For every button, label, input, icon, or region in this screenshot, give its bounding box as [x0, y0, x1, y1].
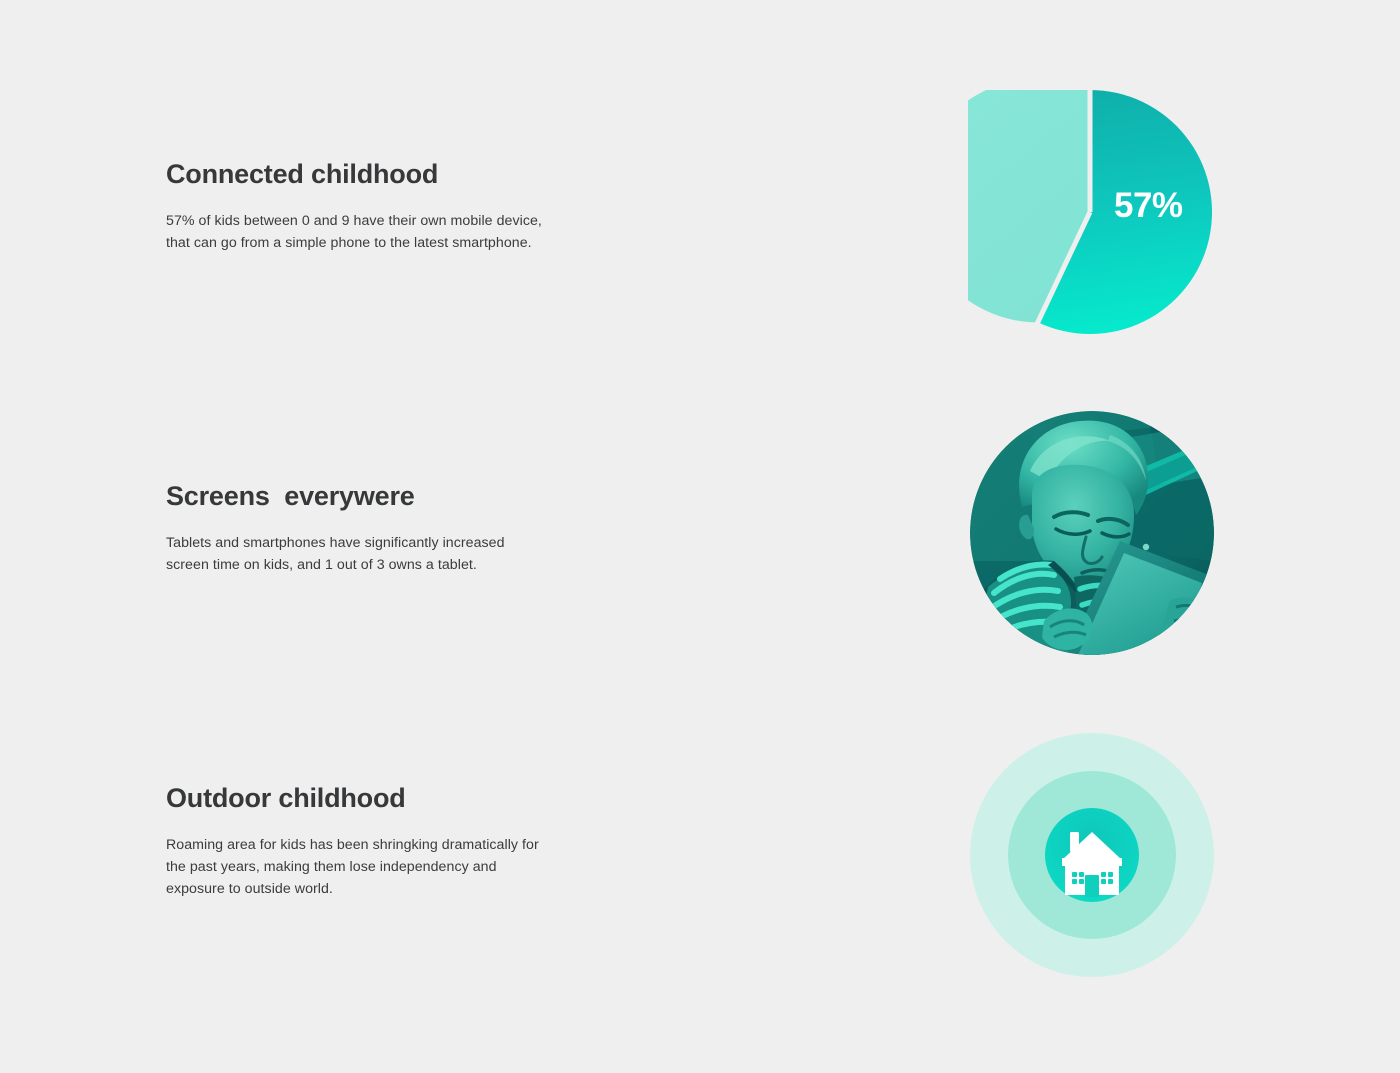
infographic-canvas: Connected childhood 57% of kids between … — [0, 0, 1400, 1073]
section-connected-childhood: Connected childhood 57% of kids between … — [166, 160, 546, 254]
concentric-circles-house — [970, 733, 1214, 977]
page-title-screens-everywere: Screens everywere — [166, 482, 546, 512]
body-text-screens-everywere: Tablets and smartphones have significant… — [166, 532, 546, 576]
page-title-outdoor-childhood: Outdoor childhood — [166, 784, 546, 814]
section-screens-everywere: Screens everywere Tablets and smartphone… — [166, 482, 546, 576]
body-text-connected-childhood: 57% of kids between 0 and 9 have their o… — [166, 210, 546, 254]
pie-chart-svg — [968, 90, 1212, 334]
photo-boy-with-tablet — [970, 411, 1214, 655]
page-title-connected-childhood: Connected childhood — [166, 160, 546, 190]
section-outdoor-childhood: Outdoor childhood Roaming area for kids … — [166, 784, 546, 900]
body-text-outdoor-childhood: Roaming area for kids has been shringkin… — [166, 834, 546, 900]
pie-chart: 57% — [968, 90, 1212, 334]
rings-svg — [970, 733, 1214, 977]
photo-content — [970, 411, 1214, 655]
photo-duotone-svg — [970, 411, 1214, 655]
